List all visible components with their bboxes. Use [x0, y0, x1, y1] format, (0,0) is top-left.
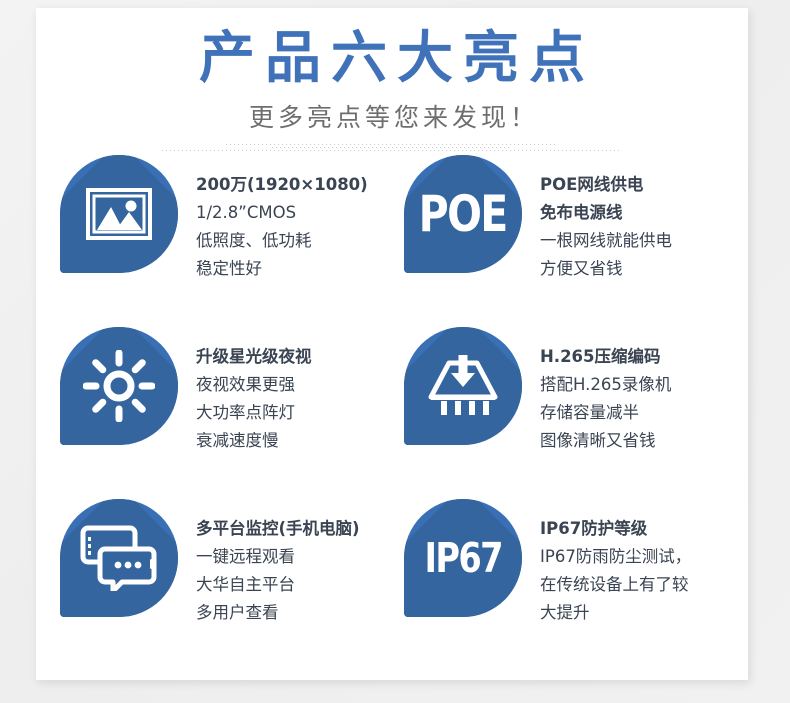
- page-title: 产品六大亮点: [36, 30, 748, 89]
- feature-headline: 多平台监控(手机电脑): [196, 515, 360, 543]
- feature-item: 200万(1920×1080)1/2.8”CMOS低照度、低功耗稳定性好: [60, 150, 404, 322]
- feature-text-block: IP67防护等级IP67防雨防尘测试，在传统设备上有了较大提升: [540, 494, 691, 627]
- feature-detail-line: 一根网线就能供电: [540, 227, 672, 255]
- feature-icon-badge: [60, 499, 178, 617]
- feature-detail-line: 在传统设备上有了较: [540, 571, 691, 599]
- page-background: 产品六大亮点 更多亮点等您来发现！ 200万(1920×1080)1/2.8”C…: [0, 0, 790, 703]
- devices-chat-icon: [60, 499, 178, 617]
- feature-headline: POE网线供电: [540, 171, 672, 199]
- feature-detail-line: 夜视效果更强: [196, 371, 312, 399]
- feature-text-block: POE网线供电免布电源线一根网线就能供电方便又省钱: [540, 150, 672, 283]
- feature-detail-line: 1/2.8”CMOS: [196, 199, 368, 227]
- feature-text-block: H.265压缩编码搭配H.265录像机存储容量减半图像清晰又省钱: [540, 322, 671, 455]
- feature-text-block: 多平台监控(手机电脑)一键远程观看大华自主平台多用户查看: [196, 494, 360, 627]
- sun-brightness-icon: [60, 327, 178, 445]
- feature-icon-badge: [404, 327, 522, 445]
- content-sheet: 产品六大亮点 更多亮点等您来发现！ 200万(1920×1080)1/2.8”C…: [36, 8, 748, 680]
- feature-headline: IP67防护等级: [540, 515, 691, 543]
- ip67-text-icon: IP67: [424, 534, 501, 582]
- poe-text-icon: POE: [419, 185, 507, 243]
- feature-icon-badge: IP67: [404, 499, 522, 617]
- feature-detail-line: 一键远程观看: [196, 543, 360, 571]
- feature-detail-line: 衰减速度慢: [196, 427, 312, 455]
- feature-detail-line: 存储容量减半: [540, 399, 671, 427]
- feature-item: 升级星光级夜视夜视效果更强大功率点阵灯衰减速度慢: [60, 322, 404, 494]
- feature-item: H.265压缩编码搭配H.265录像机存储容量减半图像清晰又省钱: [404, 322, 728, 494]
- header: 产品六大亮点 更多亮点等您来发现！: [36, 30, 748, 155]
- feature-icon-badge: POE: [404, 155, 522, 273]
- feature-detail-line: 低照度、低功耗: [196, 227, 368, 255]
- feature-detail-line: 大功率点阵灯: [196, 399, 312, 427]
- page-subtitle: 更多亮点等您来发现！: [36, 98, 748, 134]
- feature-detail-line: 方便又省钱: [540, 255, 672, 283]
- download-storage-icon: [404, 327, 522, 445]
- feature-detail-line: IP67防雨防尘测试，: [540, 543, 691, 571]
- feature-detail-line: 搭配H.265录像机: [540, 371, 671, 399]
- feature-item: IP67IP67防护等级IP67防雨防尘测试，在传统设备上有了较大提升: [404, 494, 728, 666]
- feature-text-block: 升级星光级夜视夜视效果更强大功率点阵灯衰减速度慢: [196, 322, 312, 455]
- feature-item: POEPOE网线供电免布电源线一根网线就能供电方便又省钱: [404, 150, 728, 322]
- feature-icon-badge: [60, 155, 178, 273]
- feature-headline: 200万(1920×1080): [196, 171, 368, 199]
- feature-item: 多平台监控(手机电脑)一键远程观看大华自主平台多用户查看: [60, 494, 404, 666]
- feature-headline: H.265压缩编码: [540, 343, 671, 371]
- feature-text-block: 200万(1920×1080)1/2.8”CMOS低照度、低功耗稳定性好: [196, 150, 368, 283]
- photo-icon: [60, 155, 178, 273]
- feature-headline: 升级星光级夜视: [196, 343, 312, 371]
- feature-detail-line: 大华自主平台: [196, 571, 360, 599]
- feature-grid: 200万(1920×1080)1/2.8”CMOS低照度、低功耗稳定性好POEP…: [60, 150, 728, 666]
- feature-detail-line: 稳定性好: [196, 255, 368, 283]
- feature-detail-line: 图像清晰又省钱: [540, 427, 671, 455]
- feature-headline: 免布电源线: [540, 199, 672, 227]
- feature-icon-badge: [60, 327, 178, 445]
- feature-detail-line: 多用户查看: [196, 599, 360, 627]
- feature-detail-line: 大提升: [540, 599, 691, 627]
